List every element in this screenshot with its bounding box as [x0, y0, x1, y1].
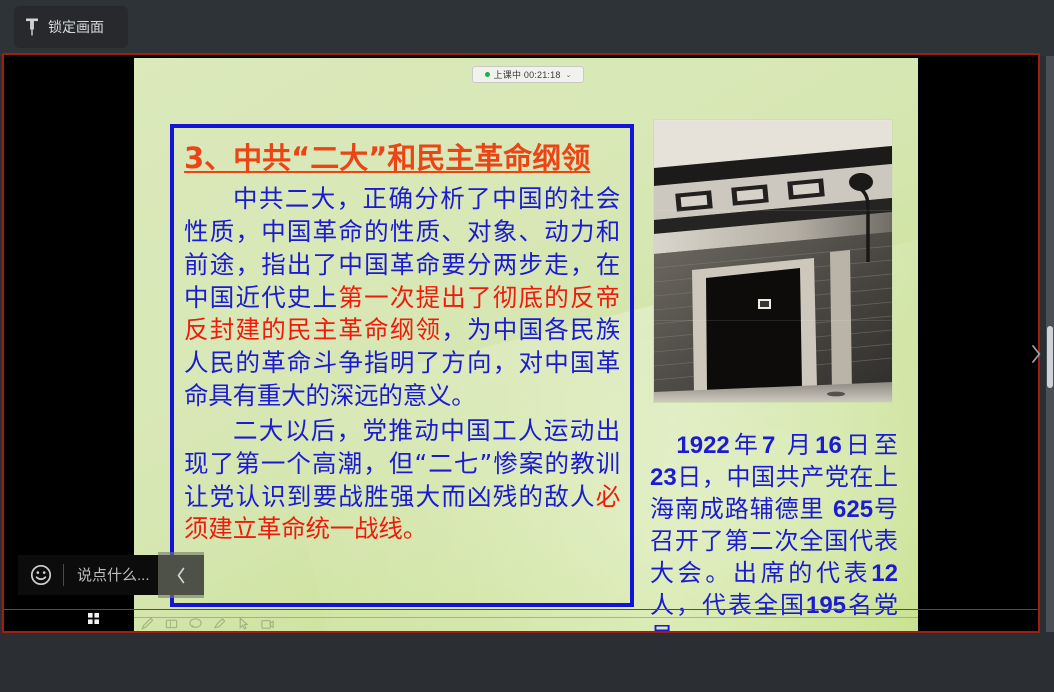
screenshot-icon[interactable]: [260, 616, 275, 631]
slide-text-box: 3、中共“二大”和民主革命纲领 中共二大，正确分析了中国的社会性质，中国革命的性…: [170, 124, 634, 607]
app-root: 锁定画面 上课中 00:21:18 ⌄ 3、中共“二大”和民主革命纲领 中共二大…: [0, 0, 1054, 692]
green-dot-icon: [485, 72, 490, 77]
panel-collapse-handle[interactable]: [158, 552, 204, 598]
caption-member-count: 195: [806, 592, 846, 619]
class-status-text: 上课中 00:21:18: [494, 68, 561, 81]
caption-t1: 年: [730, 431, 762, 459]
presentation-stage-frame: 上课中 00:21:18 ⌄ 3、中共“二大”和民主革命纲领 中共二大，正确分析…: [2, 53, 1040, 633]
highlighter-icon[interactable]: [212, 616, 227, 631]
slide-paragraph-1: 中共二大，正确分析了中国的社会性质，中国革命的性质、对象、动力和前途，指出了中国…: [184, 183, 620, 413]
chevron-down-icon: ⌄: [566, 71, 572, 79]
slide-caption-right: 1922年7 月16日至23日，中国共产党在上海南成路辅德里 625号召开了第二…: [650, 430, 898, 631]
eraser-icon[interactable]: [164, 616, 179, 631]
slide-paragraph-2: 二大以后，党推动中国工人运动出现了第一个高潮，但“二七”惨案的教训让党认识到要战…: [184, 415, 620, 546]
caption-address-number: 625: [833, 496, 873, 523]
vertical-scrollbar-thumb[interactable]: [1047, 326, 1053, 388]
smiley-icon[interactable]: [30, 564, 52, 586]
cursor-icon[interactable]: [236, 616, 251, 631]
caption-day-end: 23: [650, 464, 677, 491]
pin-icon: [24, 17, 40, 37]
caption-month: 7: [762, 432, 775, 459]
panel-expand-button[interactable]: [1024, 336, 1048, 372]
presentation-stage: 上课中 00:21:18 ⌄ 3、中共“二大”和民主革命纲领 中共二大，正确分析…: [4, 55, 1038, 631]
stage-bottom-rule: [4, 609, 1038, 610]
chevron-left-icon: [176, 567, 187, 584]
lock-screen-label: 锁定画面: [48, 20, 104, 34]
caption-t6: 人，代表全国: [650, 591, 806, 619]
slide-title: 3、中共“二大”和民主革命纲领: [184, 140, 620, 177]
lock-screen-button[interactable]: 锁定画面: [14, 6, 128, 48]
caption-year: 1922: [676, 432, 729, 459]
top-chrome-bar: 锁定画面: [0, 0, 1054, 56]
pen-icon[interactable]: [140, 616, 155, 631]
historical-photo: [654, 120, 892, 402]
historical-photo-frame: [654, 120, 892, 402]
caption-delegate-count: 12: [871, 560, 898, 587]
caption-t3: 日至: [842, 431, 898, 459]
caption-t2: 月: [775, 431, 815, 459]
annotation-toolbar: [140, 616, 275, 631]
caption-day-start: 16: [815, 432, 842, 459]
chevron-right-icon: [1030, 344, 1042, 364]
grid-icon[interactable]: [88, 613, 99, 624]
lasso-icon[interactable]: [188, 616, 203, 631]
class-status-pill[interactable]: 上课中 00:21:18 ⌄: [472, 66, 584, 83]
bottom-chrome-bar: [0, 655, 1054, 692]
paragraph-2-part-1: 二大以后，党推动中国工人运动出现了第一个高潮，但“二七”惨案的教训让党认识到要战…: [184, 416, 620, 511]
slide-canvas: 上课中 00:21:18 ⌄ 3、中共“二大”和民主革命纲领 中共二大，正确分析…: [134, 58, 918, 631]
